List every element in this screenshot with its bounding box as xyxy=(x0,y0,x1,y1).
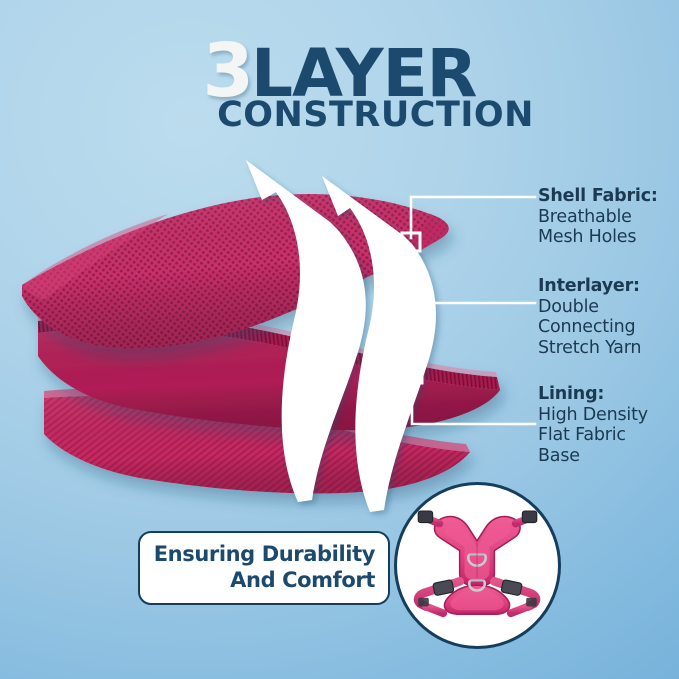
callout-lining-line-2: Flat Fabric xyxy=(538,425,648,446)
marker-square-lining xyxy=(404,365,422,383)
callout-lining-line-3: Base xyxy=(538,446,648,467)
fabric-layer-interlayer xyxy=(38,310,500,430)
page-title: 3LAYER CONSTRUCTION xyxy=(0,34,679,133)
tagline-line-1: Ensuring Durability xyxy=(154,542,375,568)
fabric-layer-lining xyxy=(44,389,470,494)
callout-interlayer-line-1: Double xyxy=(538,297,641,318)
fabric-layer-shell xyxy=(22,194,449,349)
callout-interlayer-line-3: Stretch Yarn xyxy=(538,338,641,359)
product-image-circle xyxy=(394,482,561,649)
callout-shell-line-1: Breathable xyxy=(538,207,658,228)
leader-line-shell xyxy=(411,197,535,238)
callout-interlayer-line-2: Connecting xyxy=(538,317,641,338)
callout-interlayer: Interlayer: Double Connecting Stretch Ya… xyxy=(538,276,641,359)
pink-dog-harness-illustration xyxy=(397,485,558,646)
callout-markers xyxy=(402,233,422,383)
callout-lining: Lining: High Density Flat Fabric Base xyxy=(538,384,648,467)
callout-shell-fabric: Shell Fabric: Breathable Mesh Holes xyxy=(538,186,658,248)
callout-shell-line-2: Mesh Holes xyxy=(538,227,658,248)
marker-square-interlayer xyxy=(403,294,421,312)
title-subtitle: CONSTRUCTION xyxy=(0,98,679,133)
callout-shell-heading: Shell Fabric: xyxy=(538,186,658,207)
airflow-arrows xyxy=(222,158,436,512)
tagline-banner: Ensuring Durability And Comfort xyxy=(138,531,390,605)
callout-lining-line-1: High Density xyxy=(538,405,648,426)
marker-square-shell xyxy=(402,233,420,251)
callout-interlayer-heading: Interlayer: xyxy=(538,276,641,297)
tagline-line-2: And Comfort xyxy=(230,568,375,594)
infographic-canvas: 3LAYER CONSTRUCTION xyxy=(0,0,679,679)
leader-line-lining xyxy=(412,386,535,424)
callout-leader-lines xyxy=(411,197,535,424)
callout-lining-heading: Lining: xyxy=(538,384,648,405)
